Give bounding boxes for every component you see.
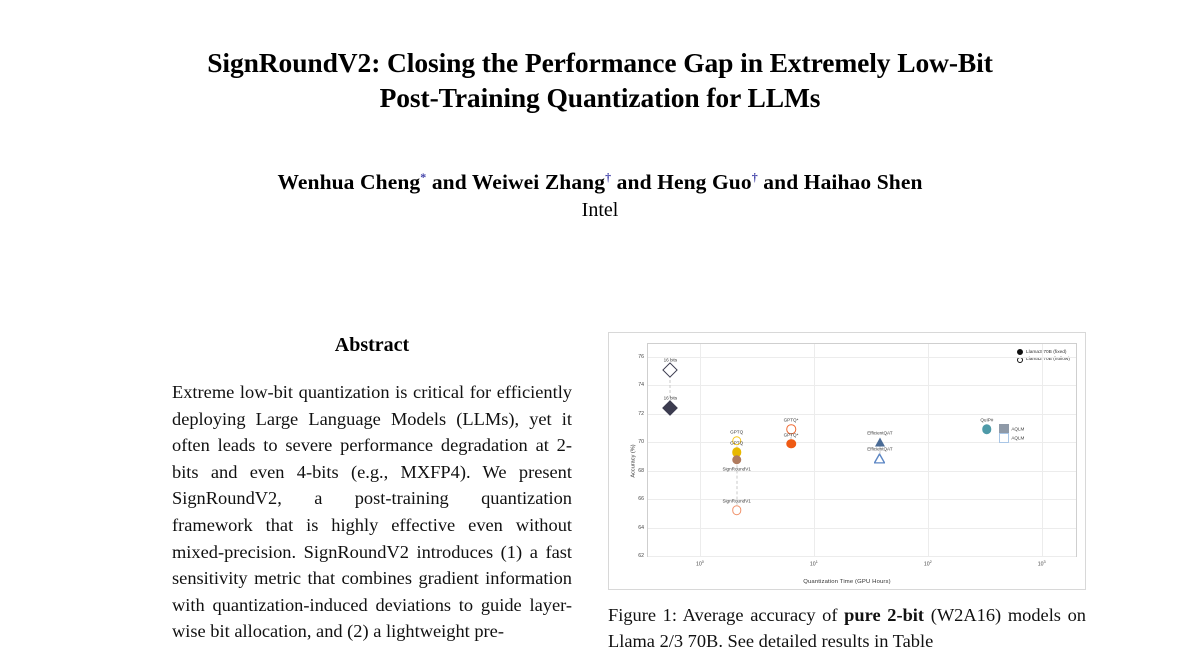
data-point-label: SignRoundV1	[722, 467, 750, 472]
author-name: Wenhua Cheng	[277, 170, 420, 194]
data-point-label: 16 bits	[664, 357, 678, 362]
author-separator: and	[758, 170, 804, 194]
x-axis-label: Quantization Time (GPU Hours)	[609, 579, 1085, 585]
data-point[interactable]: EfficientQAT	[875, 453, 885, 462]
marker-diamond-icon	[663, 362, 679, 378]
data-point-label: GPTQ	[730, 440, 743, 445]
marker-diamond-icon	[663, 400, 679, 416]
data-point[interactable]: EfficientQAT	[875, 438, 885, 447]
x-axis-tick: 101	[810, 560, 818, 568]
y-axis-tick: 62	[638, 553, 644, 559]
y-axis-tick: 66	[638, 496, 644, 502]
title-block: SignRoundV2: Closing the Performance Gap…	[150, 46, 1050, 116]
y-gridline	[648, 528, 1076, 529]
marker-circle-icon	[732, 506, 742, 516]
figure-caption: Figure 1: Average accuracy of pure 2-bit…	[608, 602, 1086, 654]
x-gridline	[928, 344, 929, 556]
marker-triangle-icon	[875, 453, 885, 462]
abstract-column: Abstract Extreme low-bit quantization is…	[172, 334, 572, 645]
author-separator: and	[426, 170, 472, 194]
y-gridline	[648, 357, 1076, 358]
data-point-label: AQLM	[1011, 435, 1024, 440]
author-separator: and	[611, 170, 657, 194]
data-point[interactable]: QuIP#	[982, 425, 992, 435]
author-name: Haihao Shen	[804, 170, 923, 194]
legend-label: Llama3-70B (fixed)	[1026, 350, 1067, 355]
marker-triangle-icon	[875, 438, 885, 447]
figure-1: Accuracy (%) Quantization Time (GPU Hour…	[608, 332, 1086, 590]
data-point[interactable]: SignRoundV1	[732, 506, 742, 516]
data-point-label: QuIP#	[980, 418, 993, 423]
title-line-1: SignRoundV2: Closing the Performance Gap…	[207, 47, 993, 78]
data-point-label: EfficientQAT	[867, 431, 892, 436]
y-gridline	[648, 414, 1076, 415]
y-axis-tick: 72	[638, 411, 644, 417]
y-gridline	[648, 471, 1076, 472]
caption-bold: pure 2-bit	[844, 605, 924, 625]
y-gridline	[648, 442, 1076, 443]
y-axis-tick: 76	[638, 354, 644, 360]
authors-block: Wenhua Cheng* and Weiwei Zhang† and Heng…	[150, 170, 1050, 222]
data-point[interactable]: 16 bits	[665, 364, 676, 375]
x-gridline	[1042, 344, 1043, 556]
marker-circle-icon	[786, 439, 796, 449]
page-title: SignRoundV2: Closing the Performance Gap…	[150, 46, 1050, 116]
x-axis-tick: 103	[1038, 560, 1046, 568]
data-point-label: GPTQ*	[784, 432, 799, 437]
data-point[interactable]: SignRoundV1	[732, 455, 742, 465]
marker-circle-icon	[982, 425, 992, 435]
figure-column: Accuracy (%) Quantization Time (GPU Hour…	[608, 332, 1086, 654]
caption-prefix: Figure 1: Average accuracy of	[608, 605, 844, 625]
affiliation: Intel	[150, 199, 1050, 222]
data-point[interactable]: 16 bits	[665, 403, 676, 414]
author-list: Wenhua Cheng* and Weiwei Zhang† and Heng…	[150, 170, 1050, 195]
data-point-label: 16 bits	[664, 396, 678, 401]
data-point-label: GPTQ	[730, 429, 743, 434]
data-point[interactable]: AQLM	[999, 433, 1009, 443]
x-gridline	[814, 344, 815, 556]
title-line-2: Post-Training Quantization for LLMs	[380, 82, 821, 113]
legend-item[interactable]: Llama3-70B (fixed)	[1017, 349, 1070, 355]
author-name: Weiwei Zhang	[472, 170, 605, 194]
abstract-heading: Abstract	[172, 334, 572, 357]
y-axis-tick: 64	[638, 525, 644, 531]
y-gridline	[648, 499, 1076, 500]
x-gridline	[700, 344, 701, 556]
data-point[interactable]: GPTQ*	[786, 439, 796, 449]
abstract-body: Extreme low-bit quantization is critical…	[172, 379, 572, 645]
marker-square-icon	[999, 433, 1009, 443]
data-point-label: GPTQ*	[784, 418, 799, 423]
x-axis-tick: 100	[696, 560, 704, 568]
data-point-label: AQLM	[1011, 427, 1024, 432]
x-axis-tick: 102	[924, 560, 932, 568]
plot-area: Llama3-70B (fixed)Llama2-70B (hollow) 76…	[647, 343, 1077, 557]
y-gridline	[648, 385, 1076, 386]
legend-marker-icon	[1017, 349, 1023, 355]
y-gridline	[648, 556, 1076, 557]
y-axis-tick: 68	[638, 468, 644, 474]
data-point-label: SignRoundV1	[722, 499, 750, 504]
y-axis-tick: 74	[638, 382, 644, 388]
data-point-label: EfficientQAT	[867, 446, 892, 451]
author-name: Heng Guo	[657, 170, 752, 194]
marker-circle-icon	[732, 455, 742, 465]
y-axis-label: Accuracy (%)	[631, 444, 637, 477]
y-axis-tick: 70	[638, 439, 644, 445]
